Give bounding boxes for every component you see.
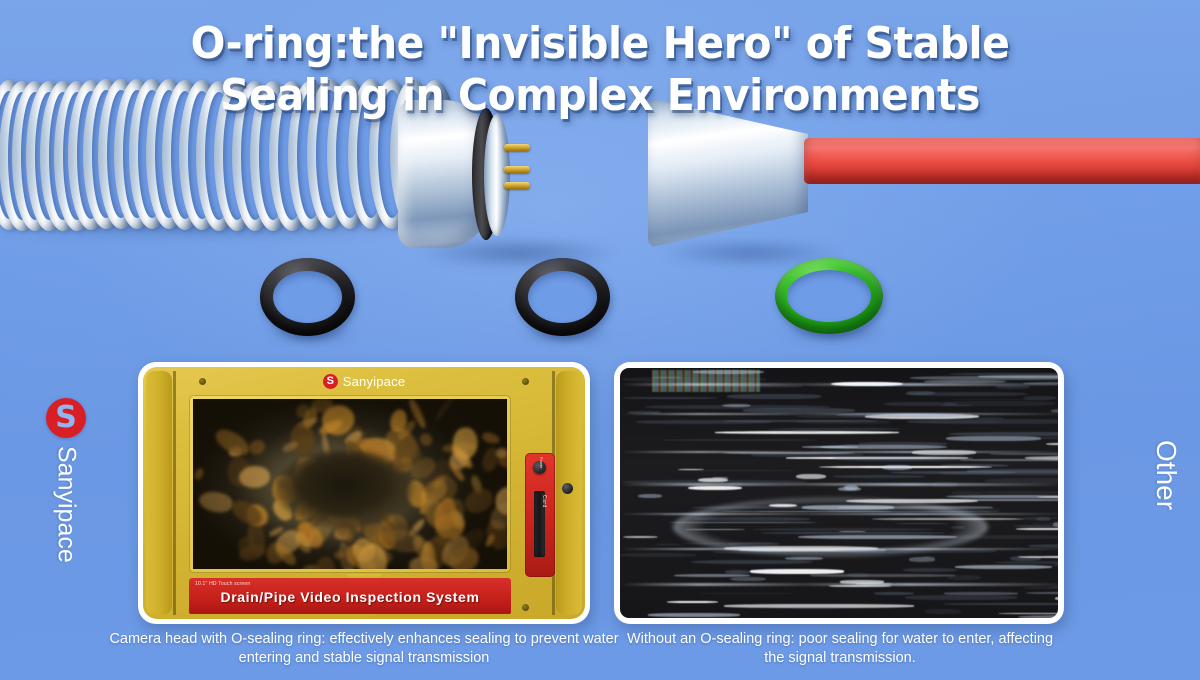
connector-pin-2 — [504, 166, 530, 173]
screen-spec-label: 10.1" HD Touch screen — [195, 581, 250, 587]
signal-streak — [907, 419, 1058, 424]
signal-streak — [874, 592, 915, 595]
distorted-signal-screen[interactable] — [620, 368, 1058, 618]
signal-streak — [944, 401, 1055, 406]
pipe-inspection-video-screen[interactable] — [193, 399, 507, 569]
signal-streak — [967, 469, 1058, 472]
signal-streak — [620, 553, 696, 557]
signal-streak — [994, 561, 1058, 564]
signal-streak — [1016, 528, 1058, 530]
signal-streak — [730, 577, 766, 582]
signal-streak — [960, 459, 1058, 461]
monitor-product-band: 10.1" HD Touch screen Drain/Pipe Video I… — [189, 578, 511, 614]
external-port[interactable] — [562, 483, 573, 494]
signal-streak — [655, 544, 681, 545]
signal-streak — [678, 469, 704, 470]
signal-streak — [750, 569, 843, 573]
signal-streak — [667, 601, 718, 603]
signal-streak — [1018, 615, 1058, 618]
signal-streak — [768, 428, 900, 431]
sanyipace-side-brand: S Sanyipace — [46, 398, 86, 563]
monitor-hinge-line-left — [173, 371, 176, 615]
sanyipace-mark-icon: S — [323, 374, 338, 389]
signal-streak — [848, 573, 868, 578]
signal-tear-band — [620, 483, 1058, 486]
connector-pin-3 — [504, 182, 530, 189]
red-cable — [804, 138, 1200, 184]
signal-streak — [1023, 396, 1057, 400]
signal-streak — [903, 568, 958, 572]
sanyipace-logo-icon: S — [46, 398, 86, 438]
signal-streak — [922, 556, 935, 559]
signal-tear-band — [620, 413, 1058, 415]
signal-streak — [1046, 443, 1058, 445]
caption-with-oring: Camera head with O-sealing ring: effecti… — [96, 630, 632, 668]
oring-inner-hole — [787, 270, 871, 322]
signal-streak — [820, 445, 947, 450]
signal-streak — [677, 470, 797, 471]
signal-streak — [978, 375, 1058, 378]
signal-tear-band — [620, 451, 1058, 453]
title-line-1: O-ring:the "Invisible Hero" of Stable — [42, 18, 1158, 70]
no-oring-signal-panel — [614, 362, 1064, 624]
signal-streak — [1055, 596, 1058, 601]
signal-streak — [622, 397, 718, 399]
signal-streak — [648, 613, 741, 616]
connector-pin-1 — [504, 144, 530, 151]
signal-streak — [661, 439, 817, 441]
signal-streak — [727, 394, 821, 399]
connector-cone-shadow — [660, 240, 840, 266]
screen-vignette — [193, 399, 507, 569]
signal-streak — [990, 453, 1058, 454]
monitor-brand-label: Sanyipace — [343, 374, 406, 389]
product-name-label: Drain/Pipe Video Inspection System — [189, 589, 511, 605]
oring-inner-hole — [528, 271, 597, 323]
promo-banner: O-ring:the "Invisible Hero" of Stable Se… — [0, 0, 1200, 680]
signal-streak — [1013, 525, 1058, 528]
title-line-2: Sealing in Complex Environments — [42, 70, 1158, 122]
signal-streak — [955, 565, 1052, 569]
signal-streak — [623, 536, 658, 539]
signal-streak — [1024, 587, 1058, 589]
signal-tear-band — [620, 383, 1058, 386]
signal-streak — [906, 391, 936, 395]
signal-streak — [785, 557, 823, 560]
inspection-monitor-panel: S Sanyipace Power Card 10.1" HD Touch sc… — [138, 362, 590, 624]
sd-card-slot-label: Card — [541, 495, 547, 508]
signal-streak — [638, 494, 662, 498]
signal-streak — [1053, 522, 1059, 526]
caption-without-oring: Without an O-sealing ring: poor sealing … — [620, 630, 1060, 668]
signal-streak — [905, 595, 1017, 599]
monitor-brand-logo: S Sanyipace — [143, 374, 585, 389]
signal-streak — [1054, 616, 1058, 618]
signal-tear-band — [620, 583, 1058, 586]
signal-streak — [976, 417, 1004, 420]
oring-green — [775, 258, 883, 334]
signal-streak — [952, 491, 981, 495]
signal-streak — [946, 495, 1058, 498]
signal-streak — [943, 603, 1058, 605]
signal-streak — [810, 574, 955, 577]
oring-inner-hole — [273, 271, 342, 323]
oring-black-2 — [515, 258, 610, 336]
camera-head-face — [484, 114, 510, 236]
oring-black-1 — [260, 258, 355, 336]
page-title: O-ring:the "Invisible Hero" of Stable Se… — [0, 18, 1200, 122]
power-button-label: Power — [539, 457, 544, 468]
other-side-label: Other — [1150, 440, 1182, 510]
signal-streak — [947, 575, 980, 580]
signal-streak — [882, 465, 912, 470]
signal-streak — [691, 560, 813, 565]
signal-streak — [1000, 437, 1058, 439]
signal-streak — [833, 456, 973, 461]
signal-streak — [789, 607, 842, 610]
inspection-monitor-body: S Sanyipace Power Card 10.1" HD Touch sc… — [143, 367, 585, 619]
signal-streak — [1025, 592, 1058, 595]
signal-streak — [688, 486, 742, 490]
signal-streak — [699, 593, 795, 594]
monitor-screw-bottom-right — [522, 604, 529, 611]
signal-streak — [944, 592, 1018, 594]
signal-streak — [833, 475, 926, 478]
monitor-screen-bezel — [189, 395, 511, 573]
signal-streak — [978, 491, 1058, 495]
signal-streak — [998, 613, 1058, 614]
sanyipace-side-label: Sanyipace — [52, 446, 81, 563]
signal-streak — [985, 478, 1058, 482]
monitor-side-control-panel: Power Card — [525, 453, 555, 577]
monitor-hinge-left — [146, 371, 172, 615]
signal-streak — [674, 574, 750, 577]
signal-sweep-arc — [673, 498, 988, 556]
signal-streak — [796, 474, 826, 479]
signal-streak — [925, 609, 960, 614]
signal-streak — [622, 377, 766, 381]
